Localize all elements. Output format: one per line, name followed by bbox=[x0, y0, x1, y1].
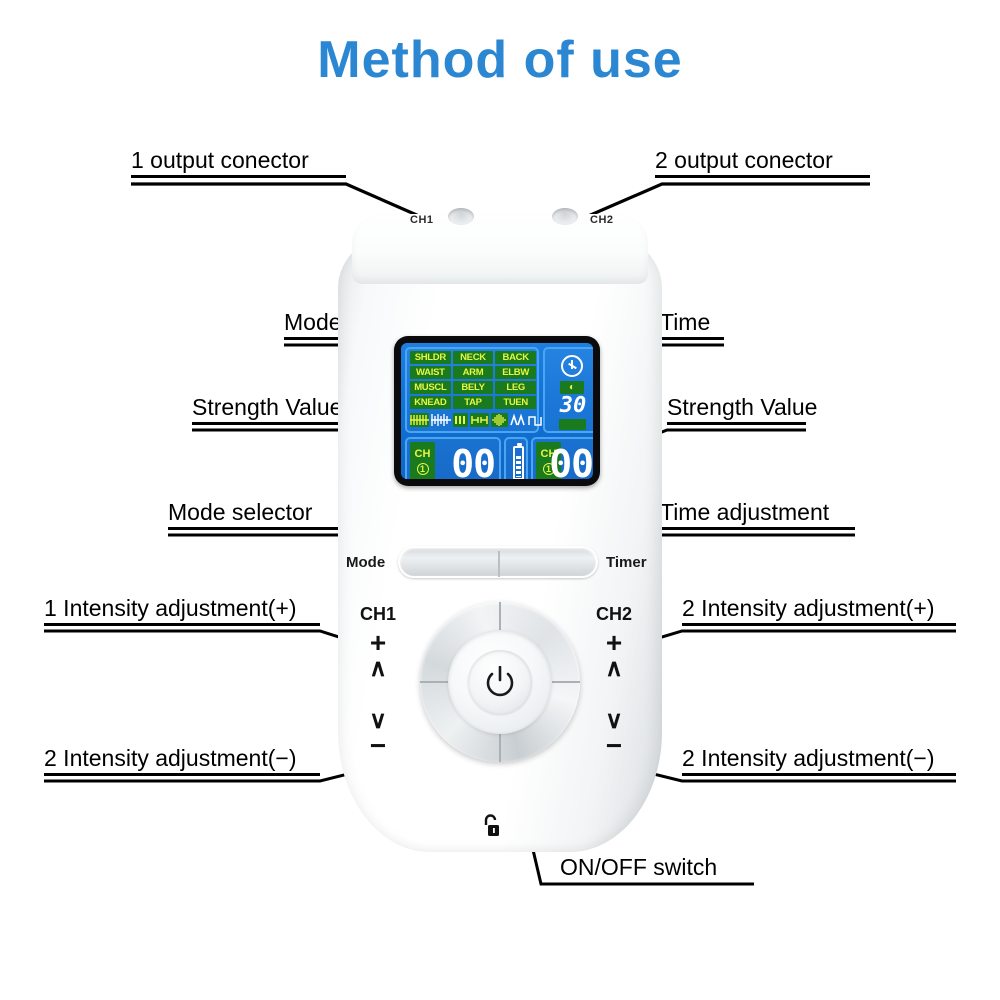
callout-intensity-minus-left: 2 Intensity adjustment(−) bbox=[44, 746, 320, 776]
clock-icon bbox=[561, 355, 583, 377]
ch1-plus-glyph: + bbox=[360, 630, 396, 656]
waveform-spindle-icon bbox=[491, 413, 508, 427]
callout-intensity-plus-2: 2 Intensity adjustment(+) bbox=[682, 596, 956, 626]
mode-cell[interactable]: TUEN bbox=[495, 396, 536, 409]
lcd-time-bar bbox=[559, 419, 586, 430]
waveform-peaks-icon bbox=[510, 413, 526, 427]
callout-time-adjustment: Time adjustment bbox=[660, 500, 855, 530]
mode-cell[interactable]: SHLDR bbox=[410, 351, 451, 364]
callout-intensity-plus-1: 1 Intensity adjustment(+) bbox=[44, 596, 320, 626]
mode-grid: SHLDR NECK BACK WAIST ARM ELBW MUSCL BEL… bbox=[410, 351, 536, 409]
unlock-icon bbox=[481, 814, 503, 838]
waveform-row bbox=[410, 412, 536, 428]
ch2-minus-glyph: − bbox=[596, 734, 632, 758]
mode-cell[interactable]: TAP bbox=[453, 396, 494, 409]
callout-strength-value-right: Strength Value bbox=[667, 395, 806, 425]
callout-output-conector-2: 2 output conector bbox=[655, 148, 870, 178]
battery-icon bbox=[513, 446, 524, 479]
pad-divider-right bbox=[552, 681, 580, 683]
pad-divider-left bbox=[420, 681, 448, 683]
lcd-battery-panel bbox=[504, 437, 528, 479]
waveform-step-icon bbox=[528, 413, 542, 427]
port-label-ch2: CH2 bbox=[590, 214, 614, 226]
pad-label-ch2: CH2 bbox=[596, 604, 632, 625]
output-port-ch2[interactable] bbox=[552, 208, 578, 225]
callout-time: Time bbox=[660, 310, 724, 340]
waveform-bowtie-icon bbox=[470, 413, 489, 427]
waveform-comb-icon bbox=[410, 413, 429, 427]
waveform-pair-icon bbox=[453, 413, 468, 427]
mode-cell[interactable]: LEG bbox=[495, 381, 536, 394]
pad-divider-top bbox=[499, 602, 501, 630]
lcd-screen: SHLDR NECK BACK WAIST ARM ELBW MUSCL BEL… bbox=[401, 343, 593, 479]
mode-cell[interactable]: BACK bbox=[495, 351, 536, 364]
lcd-bezel: SHLDR NECK BACK WAIST ARM ELBW MUSCL BEL… bbox=[394, 336, 600, 486]
channel1-strength-value: 00 bbox=[451, 443, 495, 479]
mode-cell[interactable]: KNEAD bbox=[410, 396, 451, 409]
channel2-strength-value: 00 bbox=[549, 443, 593, 479]
lcd-time-value: 30 bbox=[545, 395, 593, 417]
mode-cell[interactable]: MUSCL bbox=[410, 381, 451, 394]
mode-cell[interactable]: BELY bbox=[453, 381, 494, 394]
mode-cell[interactable]: WAIST bbox=[410, 366, 451, 379]
mode-cell[interactable]: NECK bbox=[453, 351, 494, 364]
power-icon bbox=[486, 666, 514, 698]
pad-divider-bottom bbox=[499, 734, 501, 762]
mode-timer-rocker[interactable] bbox=[398, 546, 598, 578]
callout-onoff-switch: ON/OFF switch bbox=[560, 855, 717, 882]
lcd-channel2-panel: CH 1 00 bbox=[531, 437, 593, 479]
callout-intensity-minus-right: 2 Intensity adjustment(−) bbox=[682, 746, 956, 776]
ch2-plus-glyph: + bbox=[596, 630, 632, 656]
port-label-ch1: CH1 bbox=[410, 214, 434, 226]
control-pad bbox=[420, 602, 580, 762]
timer-button-label: Timer bbox=[606, 554, 647, 571]
channel1-label: CH bbox=[410, 447, 435, 461]
output-port-ch1[interactable] bbox=[448, 208, 474, 225]
lcd-time-panel: ◐ 30 bbox=[543, 347, 593, 433]
ch2-up-glyph: ∧ bbox=[596, 656, 632, 682]
ch1-up-glyph: ∧ bbox=[360, 656, 396, 682]
ch2-glyph-column: + ∧ ∨ − bbox=[596, 630, 632, 758]
mode-button-label: Mode bbox=[346, 554, 385, 571]
mode-cell[interactable]: ARM bbox=[453, 366, 494, 379]
channel1-chip: CH 1 bbox=[410, 442, 435, 479]
ch1-glyph-column: + ∧ ∨ − bbox=[360, 630, 396, 758]
callout-output-conector-1: 1 output conector bbox=[131, 148, 346, 178]
waveform-burst-icon bbox=[431, 413, 451, 427]
lcd-mode-panel: SHLDR NECK BACK WAIST ARM ELBW MUSCL BEL… bbox=[405, 347, 539, 433]
mode-cell[interactable]: ELBW bbox=[495, 366, 536, 379]
pad-label-ch1: CH1 bbox=[360, 604, 396, 625]
tens-device: CH1 CH2 SHLDR NECK BACK WAIST ARM ELBW M… bbox=[338, 232, 662, 852]
device-top-edge: CH1 CH2 bbox=[352, 214, 648, 284]
ch1-minus-glyph: − bbox=[360, 734, 396, 758]
lcd-channel1-panel: CH 1 00 bbox=[405, 437, 501, 479]
channel1-index: 1 bbox=[417, 463, 429, 475]
